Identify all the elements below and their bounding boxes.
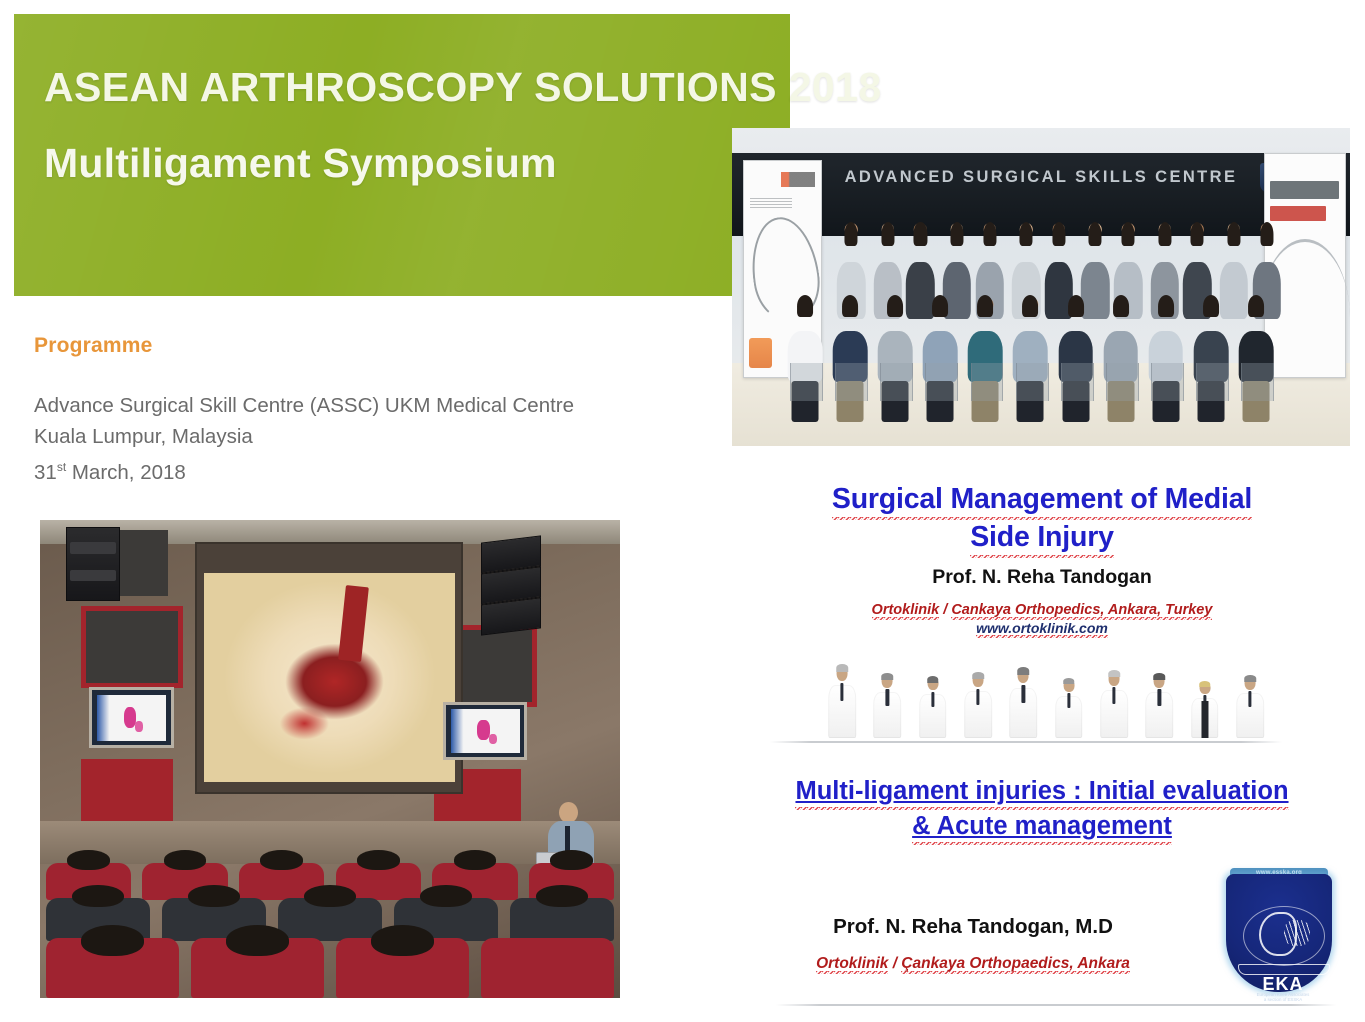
person-hair [1227, 222, 1240, 247]
photo-chair [1016, 363, 1049, 401]
date-ordinal: st [57, 460, 66, 474]
photo-chair [790, 363, 823, 401]
banner-right-headline [1270, 181, 1339, 199]
section-divider-top [770, 741, 1282, 743]
programme-venue: Advance Surgical Skill Centre (ASSC) UKM… [34, 390, 714, 421]
slide-one-title-line1: Surgical Management of Medial [832, 482, 1252, 520]
person-hair [1020, 222, 1033, 247]
speaker-grille-2 [70, 570, 116, 581]
slide-two-affiliation: Ortoklinik / Çankaya Orthopaedics, Ankar… [738, 955, 1208, 973]
doctor-figure [1007, 668, 1039, 738]
website-text: www.ortoklinik.com [976, 620, 1108, 638]
doctor-hair [882, 673, 894, 680]
banner-title-line2: Multiligament Symposium [44, 140, 557, 187]
projected-instrument [338, 585, 368, 662]
audience-head [81, 925, 145, 956]
backdrop-sign-text: ADVANCED SURGICAL SKILLS CENTRE [837, 168, 1245, 187]
slide-one-title-line2: Side Injury [970, 520, 1114, 558]
photo-chair [1196, 363, 1229, 401]
doctor-figure [1234, 676, 1266, 738]
doctor-tie [840, 683, 843, 702]
audience-head [164, 850, 207, 869]
person-hair [887, 295, 903, 317]
doctor-tie [886, 689, 889, 706]
person-hair [950, 222, 963, 247]
doctor-hair [927, 676, 939, 683]
slide-one-affiliation: Ortoklinik / Cankaya Orthopedics, Ankara… [738, 601, 1346, 619]
person-hair [1113, 295, 1129, 317]
person-hair [932, 295, 948, 317]
audience-head [454, 850, 497, 869]
person-hair [845, 222, 858, 247]
audience [40, 855, 620, 998]
slide-one-title: Surgical Management of Medial Side Injur… [738, 482, 1346, 558]
banner-left-logo [781, 172, 815, 187]
audience-head [260, 850, 303, 869]
person-hair [1122, 222, 1135, 247]
doctor-tie [1112, 687, 1115, 704]
doctor-tie [1022, 685, 1025, 703]
doctor-tie [1067, 693, 1070, 708]
person-hair [881, 222, 894, 247]
audience-head [536, 885, 587, 907]
programme-heading: Programme [34, 334, 153, 358]
monitor-left-blob [124, 707, 137, 728]
programme-details: Advance Surgical Skill Centre (ASSC) UKM… [34, 390, 714, 488]
slide-two-title: Multi-ligament injuries : Initial evalua… [738, 775, 1346, 845]
affiliation-cankaya: Cankaya Orthopedics, Ankara, Turkey [951, 602, 1212, 620]
monitor-left-blob-2 [135, 721, 143, 732]
title-banner: ASEAN ARTHROSCOPY SOLUTIONS 2018 Multili… [14, 14, 790, 296]
banner-left-text-block [750, 198, 792, 209]
doctor-figure [917, 677, 949, 738]
affiliation2-cankaya: Çankaya Orthopaedics, Ankara [901, 955, 1130, 974]
projection-screen [195, 542, 463, 795]
lecture-hall-photo [40, 520, 620, 998]
person-hair [1089, 222, 1102, 247]
eka-fibers-icon [1284, 920, 1310, 946]
doctor-figure [826, 665, 858, 738]
audience-head [357, 850, 400, 869]
photo-chair [925, 363, 958, 401]
monitor-right-blob-2 [489, 734, 497, 745]
photo-chair [1061, 363, 1094, 401]
audience-head [67, 850, 110, 869]
photo-chair [880, 363, 913, 401]
doctor-hair [1108, 670, 1120, 677]
person-hair [1248, 295, 1264, 317]
slide-one-website[interactable]: www.ortoklinik.com [738, 620, 1346, 636]
person-hair [1203, 295, 1219, 317]
eka-shield: EKA European Knee Associates a section o… [1226, 874, 1332, 992]
monitor-right-blob [477, 720, 490, 740]
photo-chair [971, 363, 1004, 401]
person-hair [842, 295, 858, 317]
affiliation2-separator: / [888, 955, 901, 972]
audience-head [304, 885, 355, 907]
person-hair [977, 295, 993, 317]
wall-monitor-frame-left [81, 606, 184, 688]
section-divider-bottom [776, 1004, 1336, 1006]
doctor-figure [1098, 671, 1130, 738]
person-hair [797, 295, 813, 317]
speaker-grille-1 [70, 542, 116, 553]
audience-head [420, 885, 471, 907]
doctor-hair [1244, 675, 1256, 682]
audience-seat [481, 938, 614, 998]
eka-logo: www.esska.org www.europeankneeassociates… [1222, 866, 1336, 996]
slide-one-author: Prof. N. Reha Tandogan [738, 566, 1346, 589]
doctor-tie [1248, 691, 1251, 707]
eka-subtitle: European Knee Associates a section of ES… [1226, 992, 1340, 1003]
person-hair [1158, 295, 1174, 317]
banner-left-footer-block [749, 338, 772, 368]
doctor-hair [1018, 667, 1030, 675]
poster-canvas: ASEAN ARTHROSCOPY SOLUTIONS 2018 Multili… [0, 0, 1365, 1022]
affiliation-ortoklinik: Ortoklinik [872, 602, 940, 620]
doctor-figure [962, 673, 994, 738]
audience-head [188, 885, 239, 907]
date-day: 31 [34, 461, 57, 484]
person-hair [1191, 222, 1204, 247]
affiliation2-ortoklinik: Ortoklinik [816, 955, 888, 974]
photo-chair [1241, 363, 1274, 401]
photo-chair [1106, 363, 1139, 401]
banner-right-subline [1270, 206, 1326, 222]
doctor-dark-garment [1201, 701, 1208, 738]
projected-surgery-image [204, 573, 455, 782]
doctor-tie [976, 689, 979, 706]
photo-chair [835, 363, 868, 401]
affiliation-separator: / [939, 602, 951, 618]
banner-title-line1: ASEAN ARTHROSCOPY SOLUTIONS 2018 [44, 64, 882, 111]
person-hair [1023, 295, 1039, 317]
person-hair [1068, 295, 1084, 317]
date-rest: March, 2018 [66, 461, 186, 484]
doctor-figure [1143, 674, 1175, 738]
audience-head [72, 885, 123, 907]
doctor-figure [1053, 679, 1085, 738]
programme-date: 31st March, 2018 [34, 452, 714, 488]
doctor-figure [871, 674, 903, 738]
doctors-team-photo [826, 662, 1266, 738]
person-hair [1052, 222, 1065, 247]
slide-two-author: Prof. N. Reha Tandogan, M.D [738, 915, 1208, 939]
doctor-tie [931, 692, 934, 708]
ceiling-speaker-left [66, 527, 120, 601]
programme-city: Kuala Lumpur, Malaysia [34, 421, 714, 452]
audience-head [371, 925, 435, 956]
person-hair [914, 222, 927, 247]
side-monitor-right [443, 702, 527, 761]
person-hair [983, 222, 996, 247]
side-monitor-left [89, 687, 173, 748]
doctor-tie [1158, 689, 1161, 706]
person-hair [1260, 222, 1273, 247]
doctor-hair [972, 672, 984, 679]
doctor-hair [1154, 673, 1166, 680]
slide-two-title-line1: Multi-ligament injuries : Initial evalua… [795, 775, 1288, 810]
slide-two-title-line2: & Acute management [912, 810, 1172, 845]
doctor-hair [1199, 681, 1211, 687]
group-photo: ADVANCED SURGICAL SKILLS CENTRE [732, 128, 1350, 446]
person-hair [1158, 222, 1171, 247]
doctor-hair [1063, 678, 1075, 684]
eka-subtitle-line2: a section of ESSKA [1226, 997, 1340, 1002]
photo-chair [1151, 363, 1184, 401]
audience-head [550, 850, 593, 869]
doctor-figure [1189, 682, 1221, 738]
doctor-hair [836, 664, 848, 672]
audience-head [226, 925, 290, 956]
